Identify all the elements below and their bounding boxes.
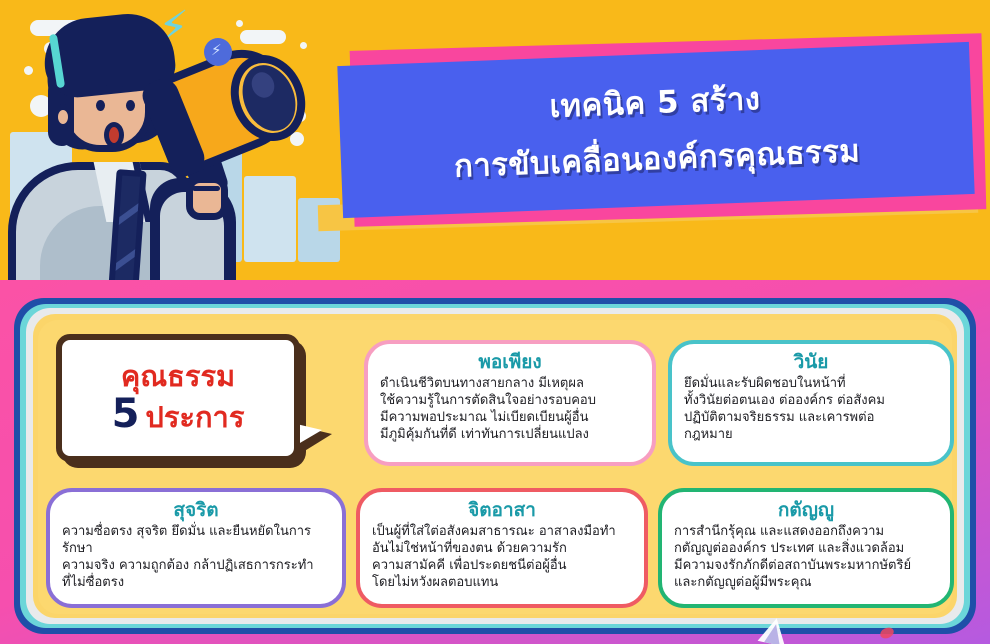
title-banner: เทคนิค 5 สร้าง การขับเคลื่อนองค์กรคุณธรร… <box>337 42 974 218</box>
eyebrow-right <box>122 85 138 91</box>
card-title: กตัญญู <box>674 500 938 522</box>
infographic-canvas: ⚡ ⚡ เทคนิค 5 สร้าง การขับเคลื่อนองค์กรคุ <box>0 0 990 644</box>
card-title: วินัย <box>684 352 938 374</box>
bubble-number: 5 <box>112 393 140 435</box>
character-illustration <box>0 10 340 295</box>
card-body: ยึดมั่นและรับผิดชอบในหน้าที่ ทั้งวินัยต่… <box>684 375 938 444</box>
bubble-subheading: 5 ประการ <box>112 393 245 435</box>
eye-left <box>96 100 105 111</box>
virtue-card-jitasa[interactable]: จิตอาสา เป็นผู้ที่ใส่ใต่อสังคมสาธารณะ อา… <box>356 488 648 608</box>
card-title: สุจริต <box>62 500 330 522</box>
finger-line <box>192 186 220 191</box>
card-title: พอเพียง <box>380 352 640 374</box>
card-title: จิตอาสา <box>372 500 632 522</box>
hand <box>186 176 228 220</box>
bubble-heading: คุณธรรม <box>121 361 235 391</box>
virtue-card-katanyu[interactable]: กตัญญู การสำนีกรุ้คุณ และแสดงออกถึงความ … <box>658 488 954 608</box>
card-body: ความซื่อตรง สุจริต ยึดมั่น และยืนหยัดในก… <box>62 523 330 592</box>
virtue-card-porpiang[interactable]: พอเพียง ดำเนินชีวิตบนทางสายกลาง มีเหตุผล… <box>364 340 656 466</box>
card-body: การสำนีกรุ้คุณ และแสดงออกถึงความ กตัญญูต… <box>674 523 938 592</box>
speech-bubble: คุณธรรม 5 ประการ <box>56 334 300 462</box>
page-title-line1: เทคนิค 5 สร้าง <box>549 73 762 137</box>
page-title-line2: การขับเคลื่อนองค์กรคุณธรรม <box>453 125 861 191</box>
lightning-bolt-icon <box>204 38 232 66</box>
virtue-card-sujarit[interactable]: สุจริต ความซื่อตรง สุจริต ยึดมั่น และยืน… <box>46 488 346 608</box>
mouth <box>104 122 124 148</box>
bubble-unit: ประการ <box>145 402 244 432</box>
ear <box>52 104 74 130</box>
card-body: เป็นผู้ที่ใส่ใต่อสังคมสาธารณะ อาสาลงมือท… <box>372 523 632 592</box>
card-body: ดำเนินชีวิตบนทางสายกลาง มีเหตุผล ใช้ความ… <box>380 375 640 444</box>
eye-right <box>126 100 135 111</box>
virtue-card-winai[interactable]: วินัย ยึดมั่นและรับผิดชอบในหน้าที่ ทั้งว… <box>668 340 954 466</box>
